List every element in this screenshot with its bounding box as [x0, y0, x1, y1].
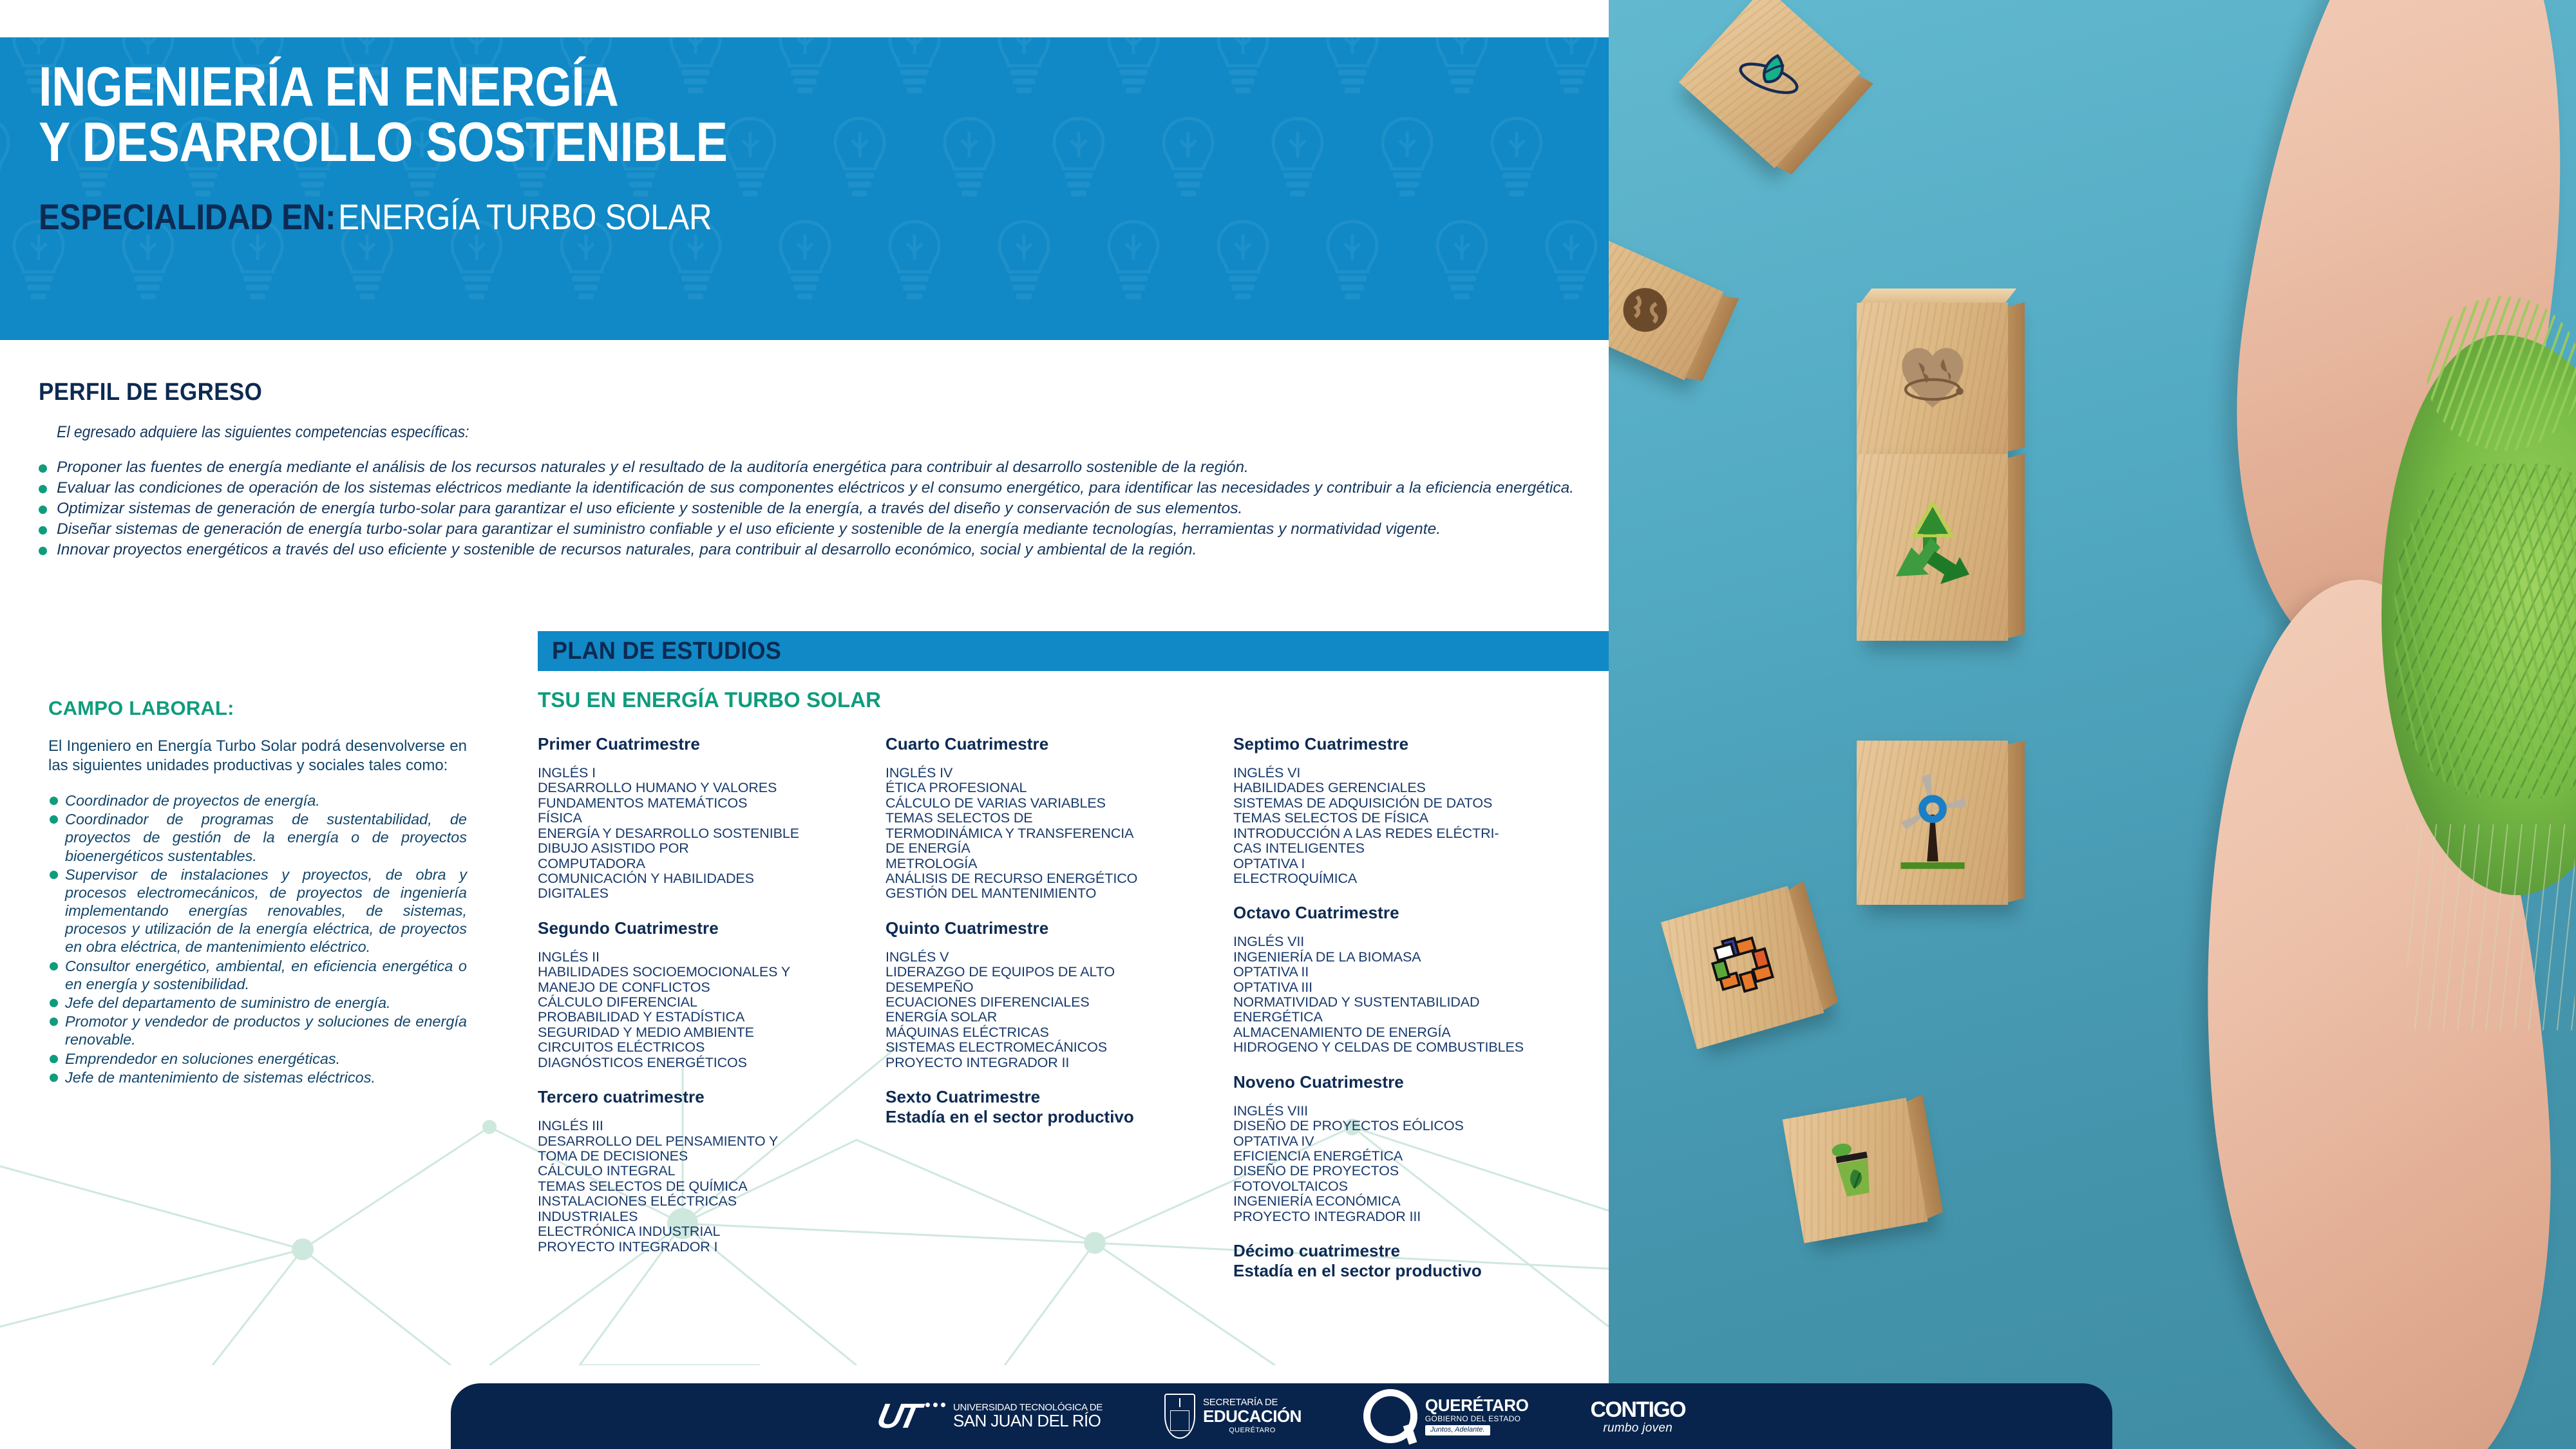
perfil-bullet-list: Proponer las fuentes de energía mediante…	[39, 459, 1597, 560]
bullet-dot-icon	[39, 506, 47, 514]
contigo-line2: rumbo joven	[1603, 1422, 1672, 1434]
term-primer: Primer Cuatrimestre INGLÉS I DESARROLLO …	[538, 734, 873, 902]
list-item: Evaluar las condiciones de operación de …	[39, 479, 1597, 498]
list-item-text: Jefe del departamento de suministro de e…	[65, 994, 391, 1011]
term-courses: INGLÉS VIII DISEÑO DE PROYECTOS EÓLICOS …	[1233, 1104, 1568, 1224]
term-heading: Quinto Cuatrimestre	[885, 918, 1220, 938]
logo-universidad-tecnologica: UT UNIVERSIDAD TECNOLÓGICA DE SAN JUAN D…	[878, 1399, 1103, 1434]
term-heading: Cuarto Cuatrimestre	[885, 734, 1220, 754]
term-courses: INGLÉS I DESARROLLO HUMANO Y VALORES FUN…	[538, 766, 873, 902]
campo-laboral-list: Coordinador de proyectos de energía. Coo…	[48, 791, 467, 1086]
list-item: Innovar proyectos energéticos a través d…	[39, 541, 1597, 560]
queretaro-line1: QUERÉTARO	[1425, 1397, 1529, 1415]
queretaro-q-icon	[1363, 1389, 1417, 1443]
bullet-dot-icon	[50, 999, 58, 1007]
perfil-subtitle: El egresado adquiere las siguientes comp…	[57, 423, 1474, 442]
term-sexto: Sexto Cuatrimestre Estadía en el sector …	[885, 1087, 1220, 1126]
sep-wordmark: SECRETARÍA DE EDUCACIÓN QUERÉTARO	[1203, 1397, 1302, 1434]
green-factory-icon	[1814, 1130, 1896, 1211]
globe-brown-icon	[1609, 267, 1688, 352]
perfil-title: PERFIL DE EGRESO	[39, 379, 1472, 406]
logo-contigo: CONTIGO rumbo joven	[1591, 1399, 1685, 1434]
term-courses: INGLÉS VI HABILIDADES GERENCIALES SISTEM…	[1233, 766, 1568, 886]
footer-bar: UT UNIVERSIDAD TECNOLÓGICA DE SAN JUAN D…	[451, 1383, 2112, 1449]
block-side	[1788, 881, 1838, 1010]
term-courses: INGLÉS VII INGENIERÍA DE LA BIOMASA OPTA…	[1233, 934, 1568, 1055]
bullet-dot-icon	[50, 797, 58, 805]
photo-panel	[1609, 0, 2576, 1449]
plan-column-3: Septimo Cuatrimestre INGLÉS VI HABILIDAD…	[1233, 734, 1568, 1327]
term-heading: Noveno Cuatrimestre	[1233, 1072, 1568, 1092]
ut-line2: SAN JUAN DEL RÍO	[953, 1412, 1103, 1430]
list-item: Consultor energético, ambiental, en efic…	[48, 957, 467, 993]
ut-wordmark: UNIVERSIDAD TECNOLÓGICA DE SAN JUAN DEL …	[953, 1403, 1103, 1430]
block-side	[1907, 1095, 1944, 1219]
wood-block-planet	[1679, 0, 1861, 168]
plan-column-2: Cuarto Cuatrimestre INGLÉS IV ÉTICA PROF…	[885, 734, 1220, 1327]
term-septimo: Septimo Cuatrimestre INGLÉS VI HABILIDAD…	[1233, 734, 1568, 886]
wood-block-factory	[1783, 1098, 1928, 1244]
list-item-text: Innovar proyectos energéticos a través d…	[57, 541, 1197, 558]
campo-laboral-section: CAMPO LABORAL: El Ingeniero en Energía T…	[48, 697, 467, 1097]
list-item: Coordinador de programas de sustentabili…	[48, 810, 467, 865]
list-item-text: Proponer las fuentes de energía mediante…	[57, 459, 1249, 476]
campo-laboral-intro: El Ingeniero en Energía Turbo Solar podr…	[48, 737, 467, 776]
bullet-dot-icon	[50, 962, 58, 971]
people-teamwork-icon	[1694, 920, 1790, 1015]
list-item-text: Diseñar sistemas de generación de energí…	[57, 520, 1441, 538]
ut-dots-icon	[925, 1403, 945, 1407]
term-courses: INGLÉS III DESARROLLO DEL PENSAMIENTO Y …	[538, 1119, 873, 1255]
term-heading: Septimo Cuatrimestre	[1233, 734, 1568, 754]
wood-block-recycle	[1857, 454, 2008, 641]
wood-block-turbine	[1857, 741, 2008, 905]
list-item: Jefe de mantenimiento de sistemas eléctr…	[48, 1068, 467, 1086]
sprouts-cluster	[2356, 258, 2576, 1063]
term-subheading: Estadía en el sector productivo	[885, 1107, 1220, 1127]
header-band: INGENIERÍA EN ENERGÍA Y DESARROLLO SOSTE…	[0, 37, 1609, 340]
queretaro-wordmark: QUERÉTARO GOBIERNO DEL ESTADO Juntos, Ad…	[1425, 1397, 1529, 1435]
block-side	[2008, 741, 2025, 902]
queretaro-tagline: Juntos, Adelante.	[1425, 1425, 1490, 1435]
bullet-dot-icon	[39, 526, 47, 535]
list-item-text: Emprendedor en soluciones energéticas.	[65, 1050, 340, 1067]
perfil-de-egreso-section: PERFIL DE EGRESO El egresado adquiere la…	[39, 379, 1597, 570]
list-item-text: Promotor y vendedor de productos y soluc…	[65, 1013, 467, 1048]
logo-queretaro-gobierno: QUERÉTARO GOBIERNO DEL ESTADO Juntos, Ad…	[1363, 1389, 1529, 1443]
bullet-dot-icon	[50, 1055, 58, 1063]
term-heading: Octavo Cuatrimestre	[1233, 903, 1568, 923]
list-item: Promotor y vendedor de productos y soluc…	[48, 1012, 467, 1048]
block-side	[1685, 296, 1739, 381]
recycle-icon	[1884, 499, 1981, 596]
bullet-dot-icon	[39, 485, 47, 493]
plan-columns: Primer Cuatrimestre INGLÉS I DESARROLLO …	[538, 734, 1610, 1327]
wood-block-teamwork	[1661, 886, 1824, 1050]
specialty-value: ENERGÍA TURBO SOLAR	[338, 196, 712, 237]
ut-monogram: UT	[874, 1399, 920, 1434]
list-item-text: Coordinador de proyectos de energía.	[65, 792, 320, 809]
list-item: Proponer las fuentes de energía mediante…	[39, 459, 1597, 477]
list-item-text: Optimizar sistemas de generación de ener…	[57, 500, 1242, 517]
term-courses: INGLÉS II HABILIDADES SOCIOEMOCIONALES Y…	[538, 950, 873, 1070]
plan-column-1: Primer Cuatrimestre INGLÉS I DESARROLLO …	[538, 734, 873, 1327]
list-item: Supervisor de instalaciones y proyectos,…	[48, 866, 467, 956]
list-item-text: Jefe de mantenimiento de sistemas eléctr…	[65, 1069, 375, 1086]
wood-block-globe	[1609, 219, 1723, 381]
block-top	[1861, 289, 2016, 303]
bullet-dot-icon	[39, 547, 47, 555]
block-side	[2008, 454, 2025, 638]
block-side	[2008, 303, 2025, 451]
list-item: Optimizar sistemas de generación de ener…	[39, 500, 1597, 518]
contigo-line1: CONTIGO	[1591, 1399, 1685, 1421]
wood-block-heart-globe	[1857, 303, 2008, 454]
program-title-line2: Y DESARROLLO SOSTENIBLE	[39, 115, 1389, 170]
logo-secretaria-educacion: SECRETARÍA DE EDUCACIÓN QUERÉTARO	[1164, 1394, 1302, 1439]
term-heading: Primer Cuatrimestre	[538, 734, 873, 754]
campo-laboral-title: CAMPO LABORAL:	[48, 697, 467, 720]
list-item: Diseñar sistemas de generación de energí…	[39, 520, 1597, 539]
list-item-text: Consultor energético, ambiental, en efic…	[65, 958, 467, 992]
list-item-text: Evaluar las condiciones de operación de …	[57, 479, 1574, 497]
bullet-dot-icon	[50, 871, 58, 879]
list-item: Coordinador de proyectos de energía.	[48, 791, 467, 810]
queretaro-line2: GOBIERNO DEL ESTADO	[1425, 1415, 1529, 1423]
list-item: Jefe del departamento de suministro de e…	[48, 994, 467, 1012]
specialty-label: ESPECIALIDAD EN:	[39, 196, 336, 237]
plan-de-estudios-label: PLAN DE ESTUDIOS	[552, 638, 781, 665]
term-courses: INGLÉS V LIDERAZGO DE EQUIPOS DE ALTO DE…	[885, 950, 1220, 1070]
term-noveno: Noveno Cuatrimestre INGLÉS VIII DISEÑO D…	[1233, 1072, 1568, 1224]
term-subheading: Estadía en el sector productivo	[1233, 1261, 1568, 1281]
list-item-text: Supervisor de instalaciones y proyectos,…	[65, 866, 467, 956]
term-heading: Décimo cuatrimestre	[1233, 1241, 1568, 1261]
list-item: Emprendedor en soluciones energéticas.	[48, 1050, 467, 1068]
term-tercero: Tercero cuatrimestre INGLÉS III DESARROL…	[538, 1087, 873, 1255]
planet-leaf-icon	[1719, 27, 1819, 127]
term-heading: Tercero cuatrimestre	[538, 1087, 873, 1107]
bullet-dot-icon	[50, 1074, 58, 1082]
term-courses: INGLÉS IV ÉTICA PROFESIONAL CÁLCULO DE V…	[885, 766, 1220, 902]
specialty-row: ESPECIALIDAD EN: ENERGÍA TURBO SOLAR	[39, 196, 1420, 238]
term-decimo: Décimo cuatrimestre Estadía en el sector…	[1233, 1241, 1568, 1280]
program-subtitle: TSU EN ENERGÍA TURBO SOLAR	[538, 688, 881, 712]
bullet-dot-icon	[39, 464, 47, 473]
term-segundo: Segundo Cuatrimestre INGLÉS II HABILIDAD…	[538, 918, 873, 1070]
wind-turbine-icon	[1884, 772, 1981, 875]
term-quinto: Quinto Cuatrimestre INGLÉS V LIDERAZGO D…	[885, 918, 1220, 1070]
term-heading: Segundo Cuatrimestre	[538, 918, 873, 938]
crest-icon	[1164, 1394, 1195, 1439]
globe-heart-icon	[1888, 334, 1978, 424]
program-title-line1: INGENIERÍA EN ENERGÍA	[39, 59, 1389, 115]
term-cuarto: Cuarto Cuatrimestre INGLÉS IV ÉTICA PROF…	[885, 734, 1220, 902]
bullet-dot-icon	[50, 1018, 58, 1026]
bullet-dot-icon	[50, 815, 58, 824]
sep-line2: EDUCACIÓN	[1203, 1408, 1302, 1425]
term-octavo: Octavo Cuatrimestre INGLÉS VII INGENIERÍ…	[1233, 903, 1568, 1055]
list-item-text: Coordinador de programas de sustentabili…	[65, 811, 467, 864]
term-heading: Sexto Cuatrimestre	[885, 1087, 1220, 1107]
plan-de-estudios-bar: PLAN DE ESTUDIOS	[538, 631, 1609, 671]
sep-line3: QUERÉTARO	[1203, 1427, 1302, 1434]
